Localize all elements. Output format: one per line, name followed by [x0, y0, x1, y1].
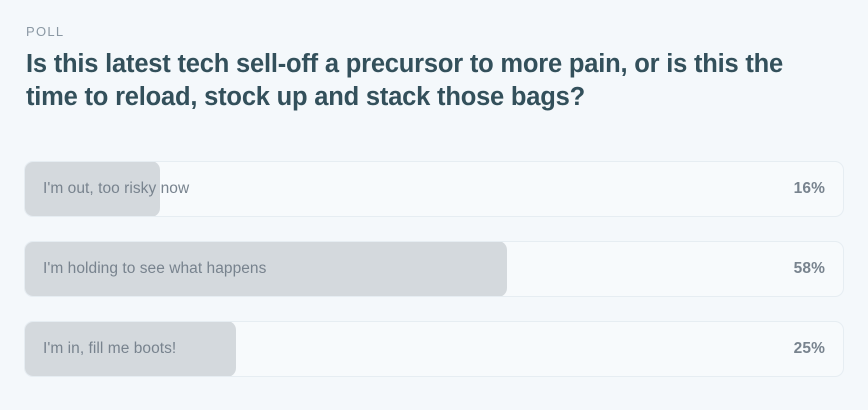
poll-option-percent: 16% — [794, 162, 825, 216]
poll-option-percent: 58% — [794, 242, 825, 296]
poll-options-list: I'm out, too risky now 16% I'm holding t… — [24, 161, 844, 377]
poll-option-label: I'm holding to see what happens — [43, 242, 266, 296]
poll-option-row[interactable]: I'm in, fill me boots! 25% — [24, 321, 844, 377]
poll-option-row[interactable]: I'm out, too risky now 16% — [24, 161, 844, 217]
poll-card: POLL Is this latest tech sell-off a prec… — [0, 0, 868, 410]
poll-option-percent: 25% — [794, 322, 825, 376]
poll-option-label: I'm in, fill me boots! — [43, 322, 176, 376]
poll-question: Is this latest tech sell-off a precursor… — [26, 48, 826, 114]
poll-option-label: I'm out, too risky now — [43, 162, 189, 216]
poll-eyebrow-label: POLL — [26, 24, 844, 40]
poll-option-row[interactable]: I'm holding to see what happens 58% — [24, 241, 844, 297]
